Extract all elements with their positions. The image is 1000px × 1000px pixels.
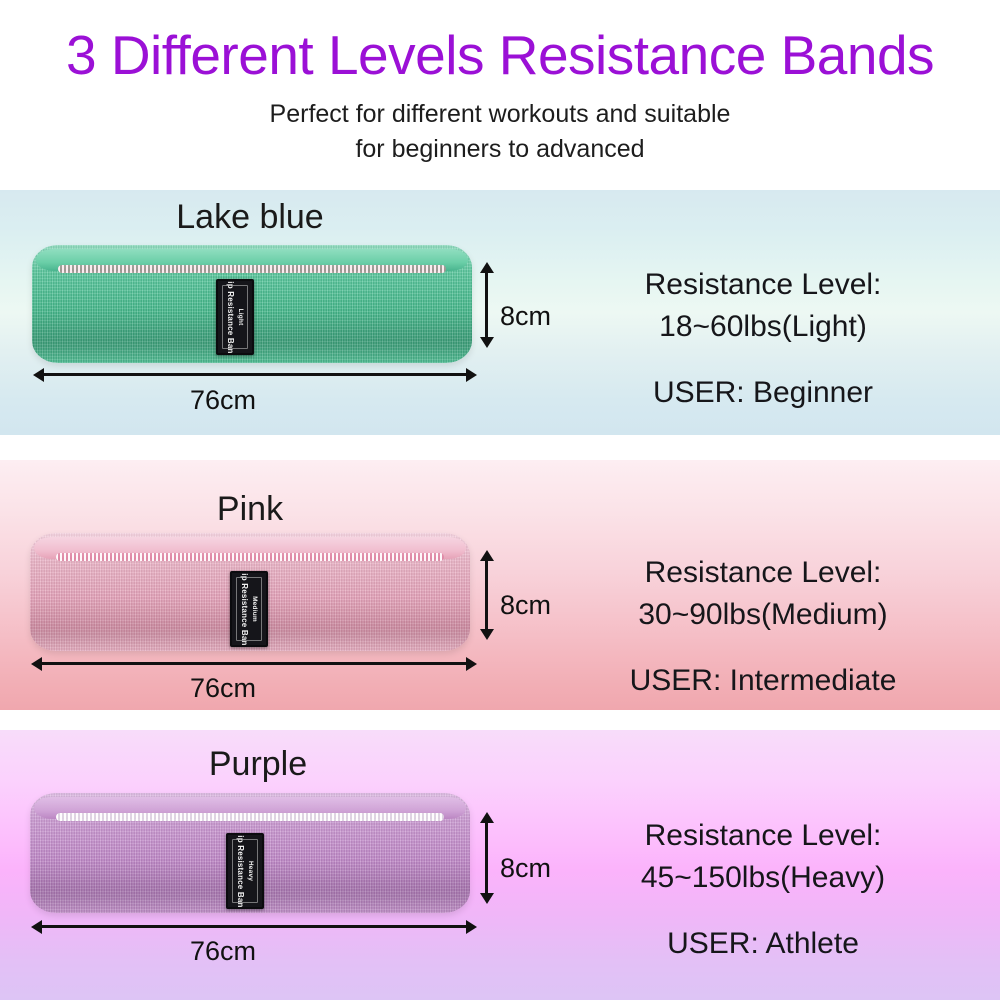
arrow-shaft — [39, 662, 469, 665]
spec-value-pink: 30~90lbs(Medium) — [563, 594, 963, 636]
spec-title-pink: Resistance Level: — [563, 552, 963, 594]
infographic-page: 3 Different Levels Resistance Bands Perf… — [0, 0, 1000, 1000]
band-tag-level: Light — [235, 279, 245, 355]
spec-block-pink: Resistance Level: 30~90lbs(Medium) USER:… — [563, 552, 963, 702]
spec-block-lake-blue: Resistance Level: 18~60lbs(Light) USER: … — [563, 264, 963, 414]
spec-value-lake-blue: 18~60lbs(Light) — [563, 306, 963, 348]
subtitle-line-1: Perfect for different workouts and suita… — [0, 97, 1000, 132]
color-name-lake-blue: Lake blue — [110, 198, 390, 237]
height-label-purple: 8cm — [500, 853, 551, 884]
band-image-purple: Heavy Hip Resistance Band — [30, 793, 470, 913]
arrow-head-right — [466, 368, 477, 382]
band-tag-level: Medium — [249, 571, 259, 647]
arrow-head-down — [480, 337, 494, 348]
band-image-pink: Medium Hip Resistance Band — [30, 533, 470, 653]
page-title: 3 Different Levels Resistance Bands — [0, 22, 1000, 88]
spec-block-purple: Resistance Level: 45~150lbs(Heavy) USER:… — [563, 815, 963, 965]
width-label-lake-blue: 76cm — [190, 385, 256, 416]
band-tag-brand: Hip Resistance Band — [235, 833, 245, 909]
arrow-head-right — [466, 657, 477, 671]
spec-title-purple: Resistance Level: — [563, 815, 963, 857]
width-label-purple: 76cm — [190, 936, 256, 967]
width-dimension-arrow-lake-blue — [33, 365, 477, 383]
color-name-purple: Purple — [118, 745, 398, 784]
band-tag-purple: Heavy Hip Resistance Band — [226, 833, 264, 909]
band-tag-brand: Hip Resistance Band — [225, 279, 235, 355]
spec-user-purple: USER: Athlete — [563, 923, 963, 965]
height-dimension-arrow-purple — [477, 812, 495, 904]
spec-user-pink: USER: Intermediate — [563, 660, 963, 702]
band-tag-text: Medium Hip Resistance Band — [239, 571, 259, 647]
arrow-shaft — [485, 558, 488, 632]
arrow-head-down — [480, 893, 494, 904]
arrow-shaft — [41, 373, 469, 376]
arrow-shaft — [485, 820, 488, 896]
height-dimension-arrow-lake-blue — [477, 262, 495, 348]
height-label-pink: 8cm — [500, 590, 551, 621]
band-tag-text: Light Hip Resistance Band — [225, 279, 245, 355]
arrow-shaft — [39, 925, 469, 928]
arrow-head-down — [480, 629, 494, 640]
height-label-lake-blue: 8cm — [500, 301, 551, 332]
band-tag-lake-blue: Light Hip Resistance Band — [216, 279, 254, 355]
header: 3 Different Levels Resistance Bands Perf… — [0, 0, 1000, 190]
band-image-lake-blue: Light Hip Resistance Band — [32, 245, 472, 365]
band-tag-text: Heavy Hip Resistance Band — [235, 833, 255, 909]
width-dimension-arrow-pink — [31, 654, 477, 672]
subtitle: Perfect for different workouts and suita… — [0, 97, 1000, 167]
height-dimension-arrow-pink — [477, 550, 495, 640]
subtitle-line-2: for beginners to advanced — [0, 132, 1000, 167]
band-tag-brand: Hip Resistance Band — [239, 571, 249, 647]
band-tag-pink: Medium Hip Resistance Band — [230, 571, 268, 647]
spec-title-lake-blue: Resistance Level: — [563, 264, 963, 306]
width-dimension-arrow-purple — [31, 917, 477, 935]
spec-value-purple: 45~150lbs(Heavy) — [563, 857, 963, 899]
arrow-head-right — [466, 920, 477, 934]
width-label-pink: 76cm — [190, 673, 256, 704]
spec-user-lake-blue: USER: Beginner — [563, 372, 963, 414]
band-tag-level: Heavy — [245, 833, 255, 909]
color-name-pink: Pink — [110, 490, 390, 529]
arrow-shaft — [485, 270, 488, 340]
